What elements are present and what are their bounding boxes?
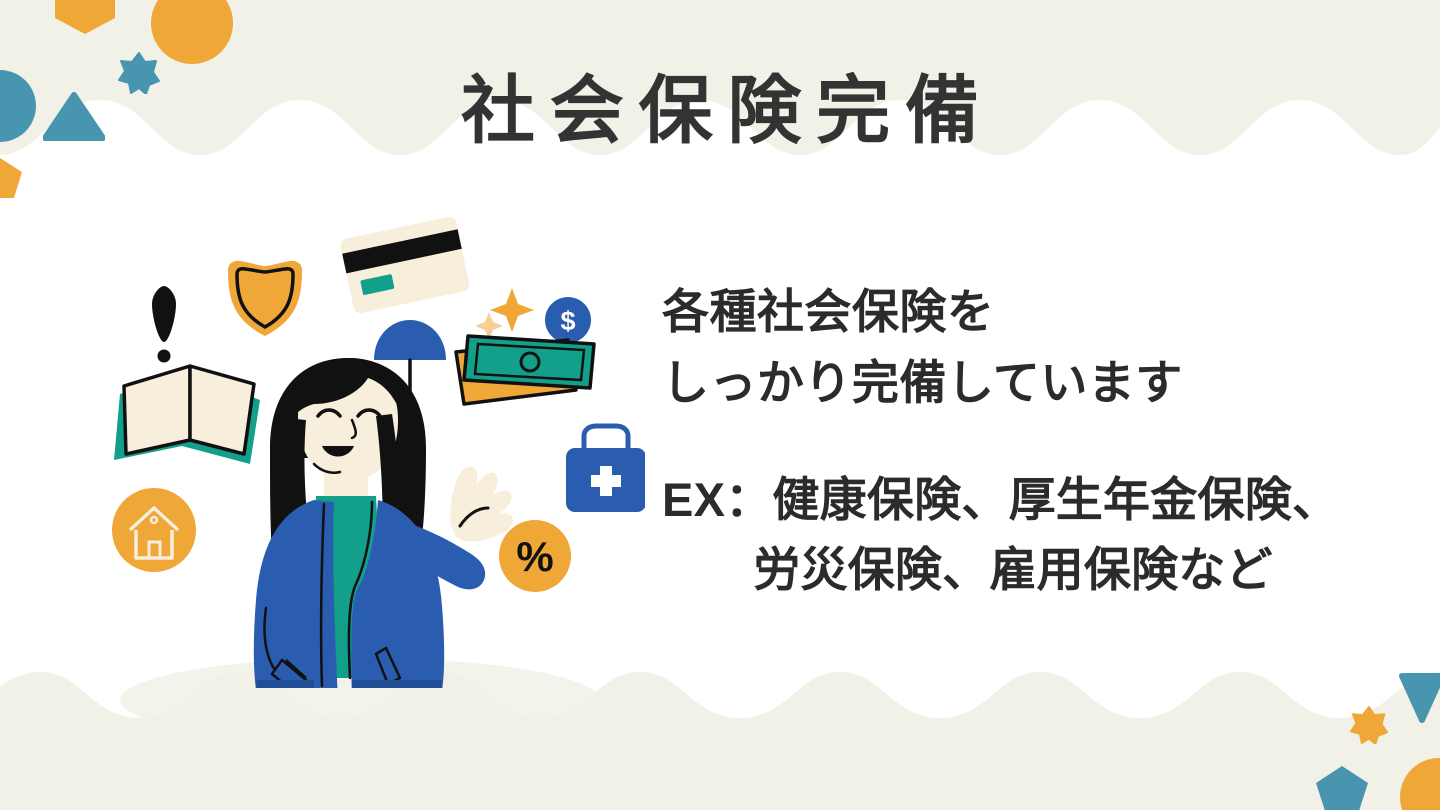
person-figure (254, 358, 513, 688)
insurance-illustration: $ % (100, 208, 645, 688)
lead-paragraph: 各種社会保険を しっかり完備しています (662, 276, 1382, 419)
percent-circle-icon: % (499, 520, 571, 592)
lead-line-2: しっかり完備しています (662, 347, 1382, 418)
example-paragraph: EX：健康保険、厚生年金保険、 労災保険、雇用保険など (662, 465, 1382, 606)
dollar-coin-label: $ (560, 306, 575, 336)
exclamation-mark-icon (152, 286, 176, 363)
house-circle-icon (112, 488, 196, 572)
pentagon-teal-bottom-icon (1316, 766, 1368, 810)
open-book-icon (114, 366, 260, 464)
lead-line-1: 各種社会保険を (662, 276, 1382, 347)
medical-kit-icon (566, 426, 645, 512)
pentagon-orange-top-icon (55, 0, 115, 34)
example-line-1: EX：健康保険、厚生年金保険、 (662, 465, 1382, 536)
shield-icon (228, 261, 302, 336)
triangle-teal-bottom-icon (1398, 672, 1440, 724)
page-title: 社会保険完備 (0, 74, 1440, 148)
banknote-icon (456, 336, 594, 404)
slide-root: 社会保険完備 (0, 0, 1440, 810)
percent-circle-label: % (516, 533, 553, 580)
sparkle-icon (475, 288, 534, 340)
pentagon-orange-left-icon (0, 158, 22, 202)
dollar-coin-icon: $ (545, 297, 591, 343)
example-line-2: 労災保険、雇用保険など (662, 535, 1382, 606)
star-orange-bottom-icon (1350, 706, 1388, 744)
credit-card-icon (339, 216, 470, 315)
body-copy-block: 各種社会保険を しっかり完備しています EX：健康保険、厚生年金保険、 労災保険… (662, 276, 1382, 606)
